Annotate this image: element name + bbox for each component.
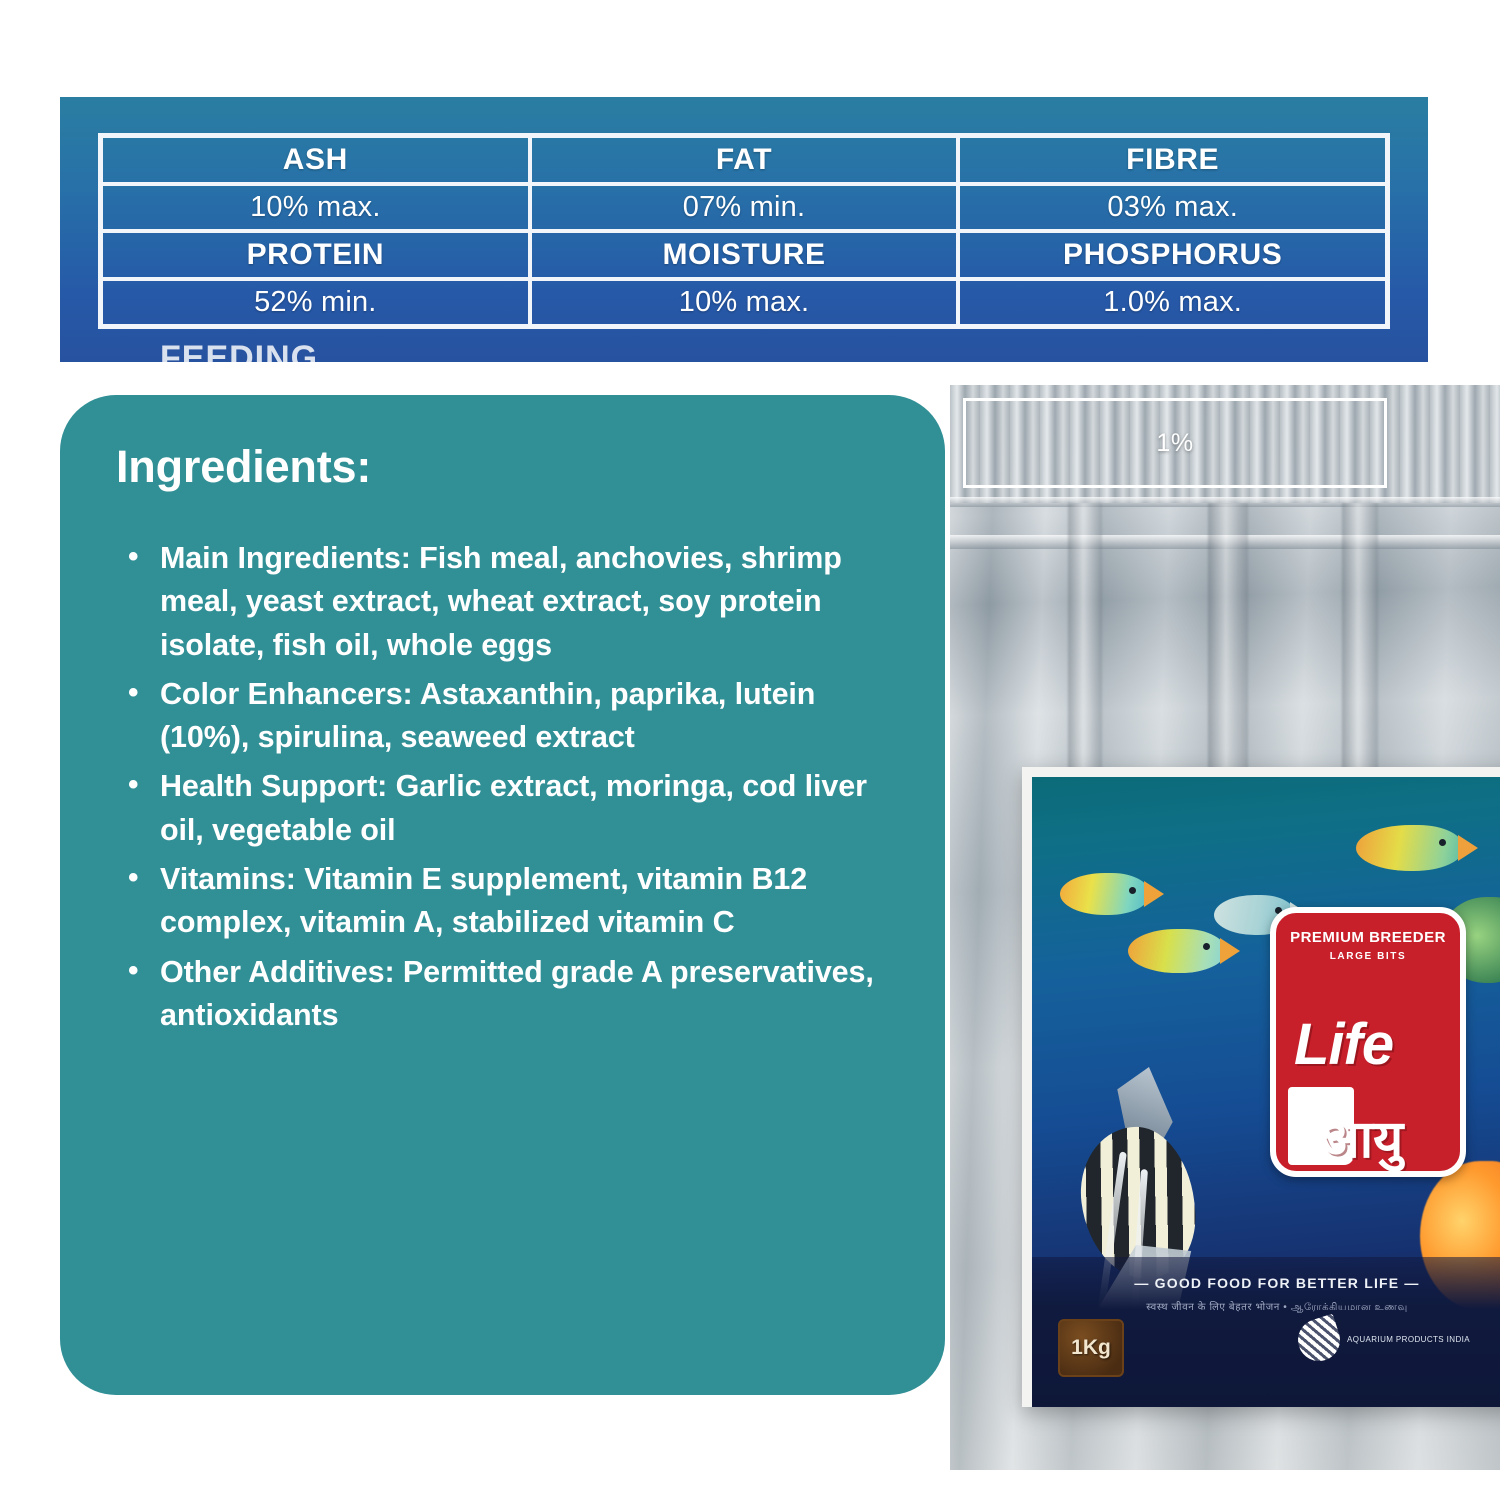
badge-premium-breeder-text: PREMIUM BREEDER: [1276, 929, 1460, 946]
package-tagline-translations: स्वस्थ जीवन के लिए बेहतर भोजन • ஆரோக்கிய…: [1032, 1299, 1500, 1314]
package-tagline: — GOOD FOOD FOR BETTER LIFE —: [1032, 1275, 1500, 1291]
measurement-overlay-label: 1%: [1156, 429, 1193, 458]
manufacturer-logo: AQUARIUM PRODUCTS INDIA: [1298, 1319, 1470, 1361]
tropical-fish-icon: [1356, 825, 1464, 871]
label-bottom-strip: — GOOD FOOD FOR BETTER LIFE — स्वस्थ जीव…: [1032, 1257, 1500, 1407]
measurement-overlay-box: 1%: [963, 398, 1387, 488]
brand-logo: Life आयु: [1286, 1009, 1462, 1169]
fish-eye-icon: [1129, 887, 1136, 894]
net-weight-badge: 1Kg: [1058, 1319, 1124, 1377]
brand-badge: PREMIUM BREEDER LARGE BITS Life आयु: [1270, 907, 1466, 1177]
table-row: 10% max. 07% min. 03% max.: [103, 186, 1385, 234]
table-header-ash: ASH: [103, 138, 532, 182]
table-header-fat: FAT: [532, 138, 961, 182]
manufacturer-name: AQUARIUM PRODUCTS INDIA: [1347, 1334, 1470, 1346]
table-row: PROTEIN MOISTURE PHOSPHORUS: [103, 233, 1385, 281]
table-header-moisture: MOISTURE: [532, 233, 961, 277]
table-value-fibre: 03% max.: [960, 186, 1385, 230]
table-value-ash: 10% max.: [103, 186, 532, 230]
brand-name-latin: Life: [1294, 1011, 1393, 1078]
list-item: Vitamins: Vitamin E supplement, vitamin …: [116, 858, 891, 945]
nutrition-banner: ASH FAT FIBRE 10% max. 07% min. 03% max.…: [60, 97, 1428, 362]
brand-name-devanagari: आयु: [1320, 1102, 1403, 1173]
list-item: Other Additives: Permitted grade A prese…: [116, 951, 891, 1038]
table-row: ASH FAT FIBRE: [103, 138, 1385, 186]
table-value-fat: 07% min.: [532, 186, 961, 230]
table-header-phosphorus: PHOSPHORUS: [960, 233, 1385, 277]
ingredients-panel: Ingredients: Main Ingredients: Fish meal…: [60, 395, 945, 1395]
list-item: Main Ingredients: Fish meal, anchovies, …: [116, 537, 891, 667]
table-row: 52% min. 10% max. 1.0% max.: [103, 281, 1385, 325]
ingredients-list: Main Ingredients: Fish meal, anchovies, …: [116, 537, 891, 1037]
clipped-feeding-heading: FEEDING: [160, 339, 318, 362]
tropical-fish-icon: [1060, 873, 1150, 915]
badge-large-bits-text: LARGE BITS: [1276, 951, 1460, 962]
table-header-protein: PROTEIN: [103, 233, 532, 277]
label-artwork: PREMIUM BREEDER LARGE BITS Life आयु — GO…: [1032, 777, 1500, 1407]
nutrition-table: ASH FAT FIBRE 10% max. 07% min. 03% max.…: [98, 133, 1390, 329]
table-value-phosphorus: 1.0% max.: [960, 281, 1385, 325]
product-package-photo: 1%: [950, 385, 1500, 1470]
table-header-fibre: FIBRE: [960, 138, 1385, 182]
package-front-label: PREMIUM BREEDER LARGE BITS Life आयु — GO…: [1022, 767, 1500, 1407]
list-item: Health Support: Garlic extract, moringa,…: [116, 765, 891, 852]
fish-eye-icon: [1203, 943, 1210, 950]
list-item: Color Enhancers: Astaxanthin, paprika, l…: [116, 673, 891, 760]
fish-eye-icon: [1439, 839, 1446, 846]
table-value-protein: 52% min.: [103, 281, 532, 325]
tropical-fish-icon: [1128, 929, 1226, 973]
page-title: Ingredients:: [116, 441, 891, 493]
leaf-mark-icon: [1293, 1314, 1346, 1367]
table-value-moisture: 10% max.: [532, 281, 961, 325]
